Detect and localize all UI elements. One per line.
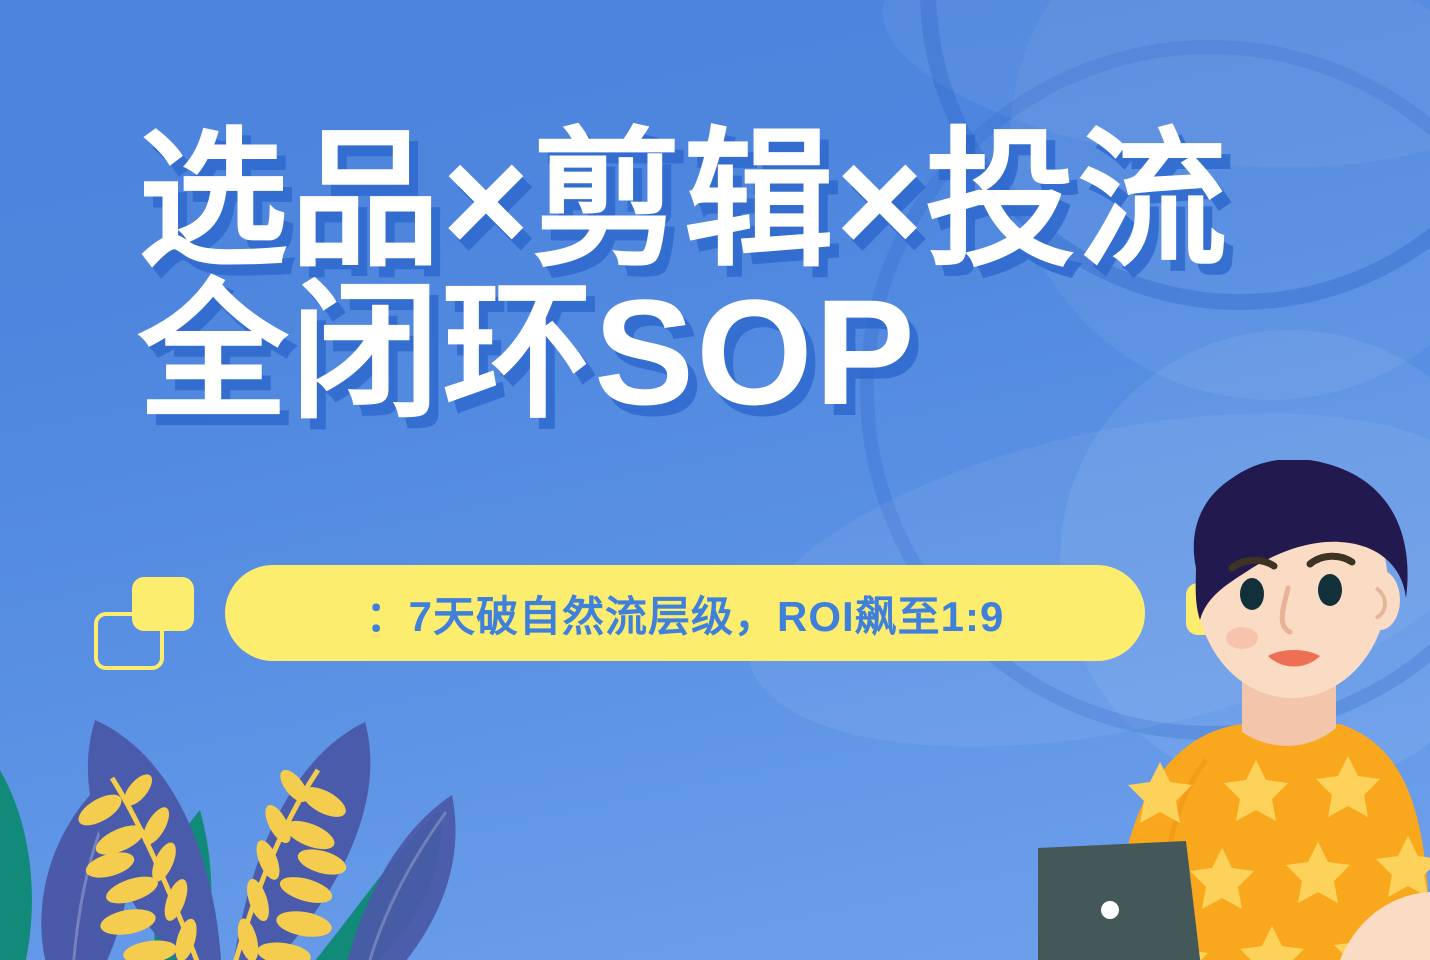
laptop-logo-dot <box>1101 901 1119 919</box>
decor-square-left-outline <box>94 612 164 670</box>
promo-banner: 选品×剪辑×投流 全闭环SOP ：7天破自然流层级，ROI飙至1:9 <box>0 0 1430 960</box>
laptop-lid <box>1038 841 1202 960</box>
cheek-blush <box>1226 627 1258 649</box>
headline-line-2: 全闭环SOP <box>138 280 1229 426</box>
laptop <box>1036 786 1296 960</box>
headline-block: 选品×剪辑×投流 全闭环SOP <box>138 128 1229 425</box>
headline-line-1: 选品×剪辑×投流 <box>138 128 1229 274</box>
plant-illustration <box>0 690 520 960</box>
leaf-teal-far-left <box>0 770 32 960</box>
subtitle-text: ：7天破自然流层级，ROI飙至1:9 <box>366 583 1005 644</box>
subtitle-badge: ：7天破自然流层级，ROI飙至1:9 <box>225 565 1145 661</box>
